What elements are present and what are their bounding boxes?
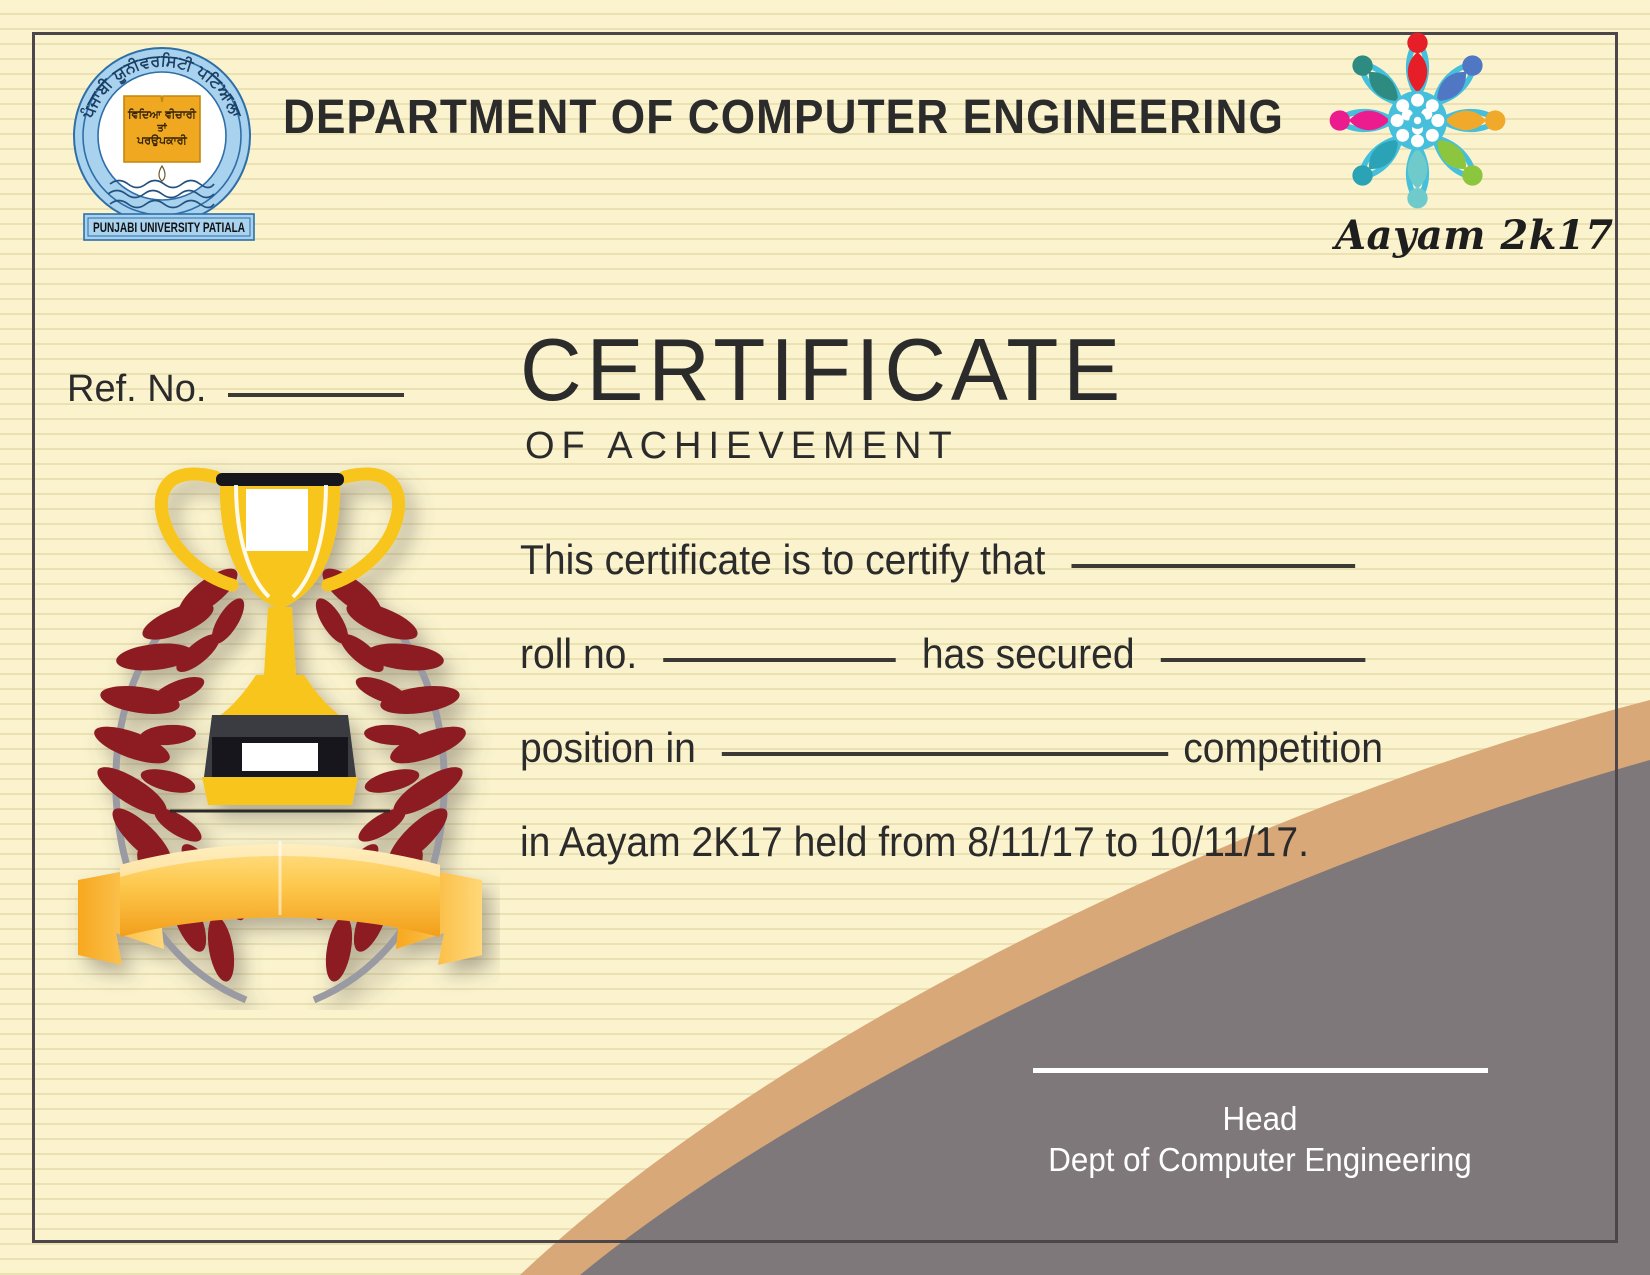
body-text-competition: competition (1183, 724, 1383, 772)
reference-number-blank[interactable] (228, 393, 404, 397)
body-text-certify: This certificate is to certify that (520, 536, 1045, 584)
page-subtitle: OF ACHIEVEMENT (525, 425, 959, 468)
logo-book-line-2: ਤਾਂ (156, 122, 167, 134)
signatory-title: Head (1023, 1098, 1498, 1139)
logo-book-line-3: ਪਰਉਪਕਾਰੀ (136, 133, 187, 147)
certificate-page: ਪੰਜਾਬੀ ਯੂਨੀਵਰਸਿਟੀ ਪਟਿਆਲਾ ਵਿਦਿਆ ਵੀਚਾਰੀ ਤਾ… (0, 0, 1650, 1275)
position-blank[interactable] (1161, 658, 1366, 662)
aayam-event-logo (1325, 28, 1510, 213)
reference-number-field[interactable]: Ref. No. (67, 368, 404, 411)
aayam-wordmark: Aayam 2k17 (1335, 212, 1515, 259)
body-text-position-in: position in (520, 724, 696, 772)
competition-blank[interactable] (722, 752, 1168, 756)
signatory-department: Dept of Computer Engineering (1023, 1139, 1498, 1180)
department-title: DEPARTMENT OF COMPUTER ENGINEERING (283, 90, 1284, 145)
punjabi-university-logo: ਪੰਜਾਬੀ ਯੂਨੀਵਰਸਿਟੀ ਪਟਿਆਲਾ ਵਿਦਿਆ ਵੀਚਾਰੀ ਤਾ… (62, 38, 277, 253)
body-line-competition: position in competition (520, 724, 1441, 818)
logo-name-banner: PUNJABI UNIVERSITY PATIALA (84, 214, 254, 240)
logo-book-line-1: ਵਿਦਿਆ ਵੀਚਾਰੀ (127, 107, 197, 121)
page-title: CERTIFICATE (520, 326, 1125, 414)
signature-line (1033, 1068, 1488, 1073)
logo-gear-hub-icon (1388, 91, 1447, 150)
roll-no-blank[interactable] (663, 658, 896, 662)
name-blank[interactable] (1071, 564, 1355, 568)
body-line-roll: roll no. has secured (520, 630, 1441, 724)
body-text-event-dates: in Aayam 2K17 held from 8/11/17 to 10/11… (520, 818, 1309, 866)
reference-number-label: Ref. No. (67, 368, 206, 411)
certificate-body: This certificate is to certify that roll… (520, 536, 1441, 912)
body-text-has-secured: has secured (922, 630, 1135, 678)
signature-block: Head Dept of Computer Engineering (1023, 1098, 1498, 1181)
body-line-name: This certificate is to certify that (520, 536, 1441, 630)
body-text-roll-no: roll no. (520, 630, 637, 678)
logo-banner-text: PUNJABI UNIVERSITY PATIALA (93, 219, 245, 235)
body-line-event-dates: in Aayam 2K17 held from 8/11/17 to 10/11… (520, 818, 1441, 912)
trophy-laurel-award-illustration (60, 425, 500, 1010)
